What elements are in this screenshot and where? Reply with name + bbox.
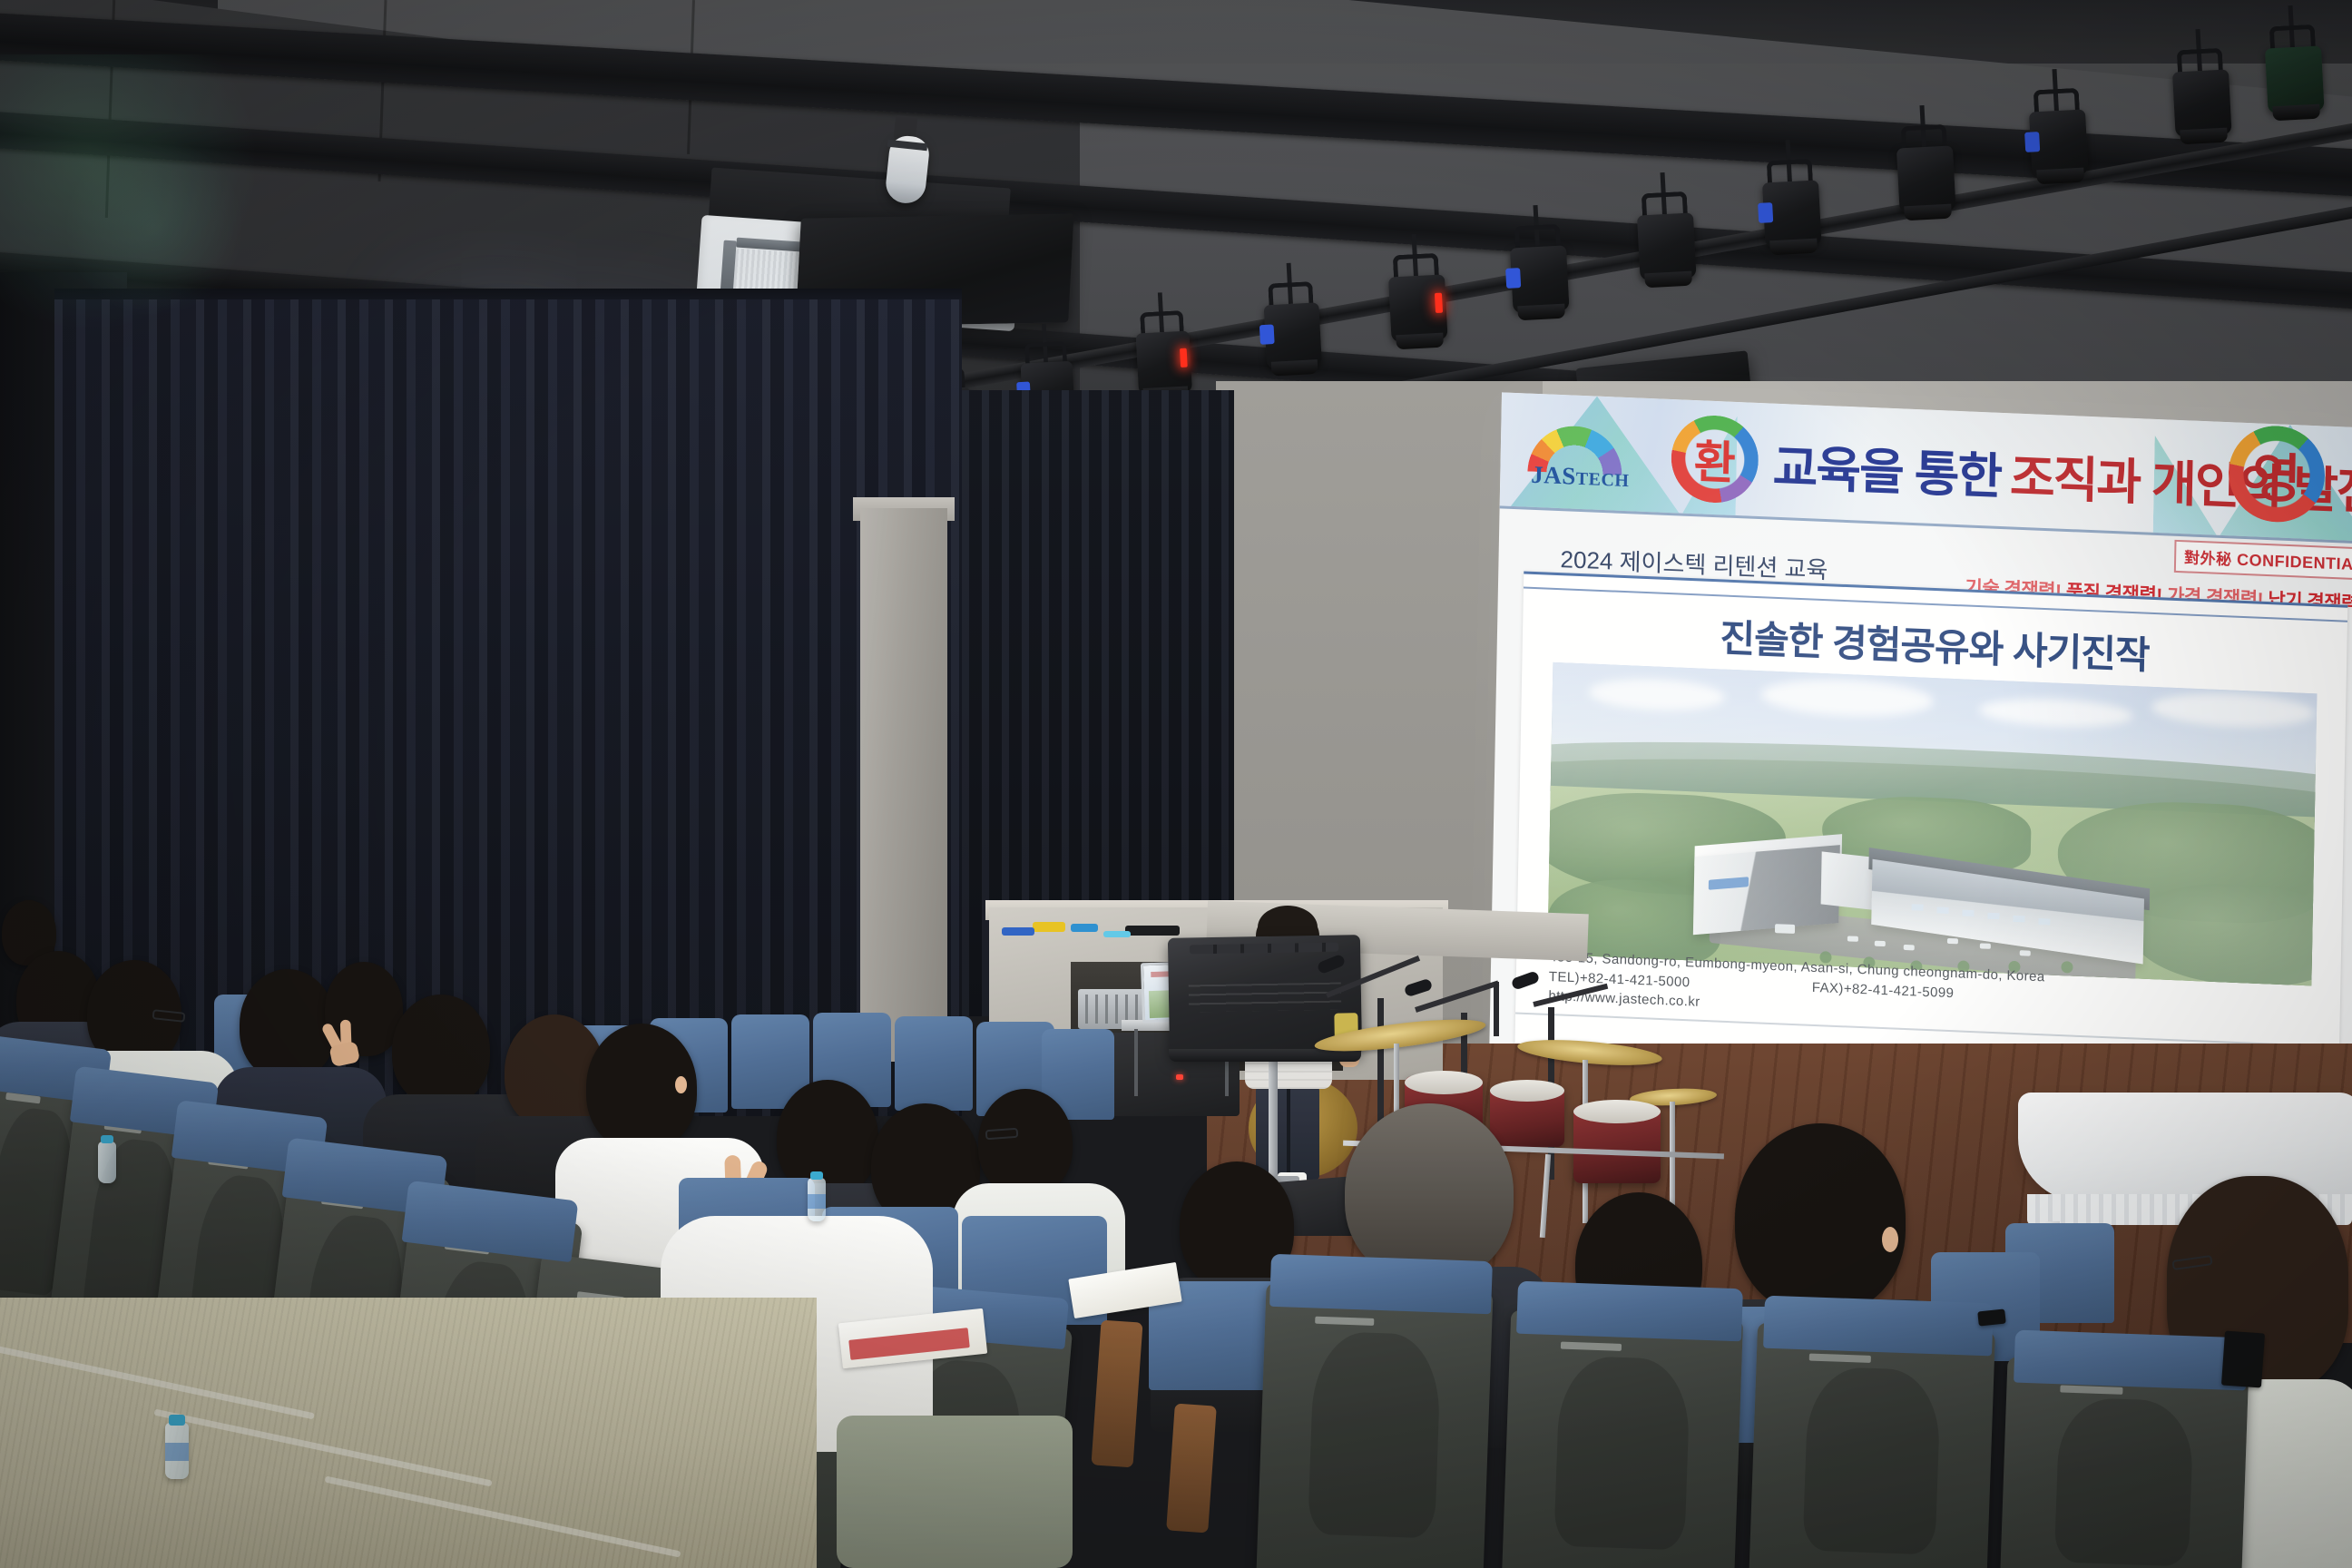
smartphone[interactable] bbox=[1977, 1308, 2006, 1326]
light-body bbox=[1896, 145, 1956, 213]
seat-headrest[interactable] bbox=[1763, 1296, 1994, 1357]
presenter-leg-split bbox=[1287, 1085, 1290, 1180]
audience-head bbox=[392, 995, 490, 1105]
stage-spotlight bbox=[1762, 176, 1823, 259]
monitor-back-ribs bbox=[1189, 983, 1341, 1013]
light-body bbox=[1637, 212, 1697, 280]
ear bbox=[675, 1076, 687, 1093]
marker-pen bbox=[1002, 927, 1034, 936]
projection-screen[interactable]: JASTECH 환 교육을 통한 조직과 개인의 발전 영 對外秘 CONFID… bbox=[1489, 392, 2352, 1099]
audience-head bbox=[1735, 1123, 1906, 1314]
seat-hinge-mark bbox=[1561, 1342, 1622, 1351]
bottle-label bbox=[808, 1194, 826, 1209]
light-lens bbox=[2180, 128, 2228, 145]
audience-lap bbox=[837, 1416, 1073, 1568]
light-clip bbox=[1758, 202, 1773, 223]
water-bottle[interactable] bbox=[808, 1178, 826, 1221]
company-logo-text: JASTECH bbox=[1531, 461, 1630, 493]
monitor-vent bbox=[1190, 943, 1338, 955]
marker-pen bbox=[1071, 924, 1098, 932]
factory-aerial-photo bbox=[1547, 662, 2317, 986]
light-lens bbox=[1904, 204, 1952, 221]
light-lens bbox=[1644, 271, 1692, 289]
footer-tel: TEL)+82-41-421-5000 bbox=[1549, 968, 1690, 989]
seat-armrest bbox=[1166, 1404, 1217, 1534]
stage-spotlight bbox=[1263, 299, 1322, 379]
light-status-led bbox=[1180, 348, 1188, 367]
logo-suffix: TECH bbox=[1576, 469, 1630, 491]
pen bbox=[1103, 931, 1131, 937]
audience-head-grey bbox=[1345, 1103, 1514, 1281]
aisle-carpet bbox=[0, 1298, 817, 1568]
auditorium-seat[interactable] bbox=[1749, 1323, 1995, 1568]
light-lens bbox=[1517, 304, 1565, 321]
bottle-cap bbox=[169, 1415, 185, 1426]
presentation-slide: 2024 제이스텍 리텐션 교육 진솔한 경험공유와 사기진작 bbox=[1514, 571, 2347, 1078]
projected-image: JASTECH 환 교육을 통한 조직과 개인의 발전 영 對外秘 CONFID… bbox=[1489, 392, 2352, 1099]
young-badge-char: 영 bbox=[2228, 424, 2326, 524]
remote-control bbox=[1125, 926, 1180, 936]
marker-pen bbox=[1033, 922, 1065, 932]
water-bottle[interactable] bbox=[98, 1142, 116, 1183]
mic-stand-pole bbox=[1494, 982, 1499, 1036]
seat-hinge-mark bbox=[2060, 1385, 2122, 1394]
projector-haze bbox=[1547, 662, 2317, 986]
confidential-korean: 對外秘 bbox=[2184, 549, 2232, 568]
stage-spotlight bbox=[2172, 65, 2233, 148]
light-body bbox=[2172, 69, 2232, 137]
audience-head bbox=[240, 969, 336, 1080]
water-bottle[interactable] bbox=[165, 1423, 189, 1479]
light-status-led bbox=[1435, 293, 1443, 313]
bottle-label bbox=[165, 1443, 189, 1461]
audience-head bbox=[978, 1089, 1073, 1196]
seat-headrest[interactable] bbox=[2014, 1330, 2248, 1391]
seat-headrest[interactable] bbox=[1516, 1281, 1743, 1342]
stage-spotlight bbox=[1388, 270, 1449, 353]
light-body bbox=[2265, 45, 2325, 113]
tom-drum-head bbox=[1405, 1071, 1483, 1094]
light-clip bbox=[2024, 132, 2040, 152]
seat-hinge-mark bbox=[1315, 1317, 1374, 1326]
stage-spotlight bbox=[2029, 105, 2090, 188]
seat-armrest bbox=[1091, 1320, 1142, 1468]
light-lens bbox=[1769, 239, 1818, 256]
slide-eyebrow: 2024 제이스텍 리텐션 교육 bbox=[1560, 541, 1828, 585]
light-lens bbox=[1271, 359, 1318, 376]
stage-curtain bbox=[54, 299, 962, 1116]
auditorium-seat[interactable] bbox=[1256, 1283, 1493, 1568]
smartphone[interactable] bbox=[2221, 1331, 2265, 1388]
hwan-badge-char: 환 bbox=[1671, 414, 1759, 505]
stage-spotlight bbox=[1510, 241, 1571, 324]
light-clip bbox=[1505, 268, 1521, 289]
floor-tom-head bbox=[1573, 1100, 1661, 1123]
bottle-cap bbox=[810, 1171, 823, 1180]
stage-spotlight bbox=[1637, 209, 1698, 291]
light-lens bbox=[1396, 333, 1444, 350]
ear bbox=[1882, 1227, 1898, 1252]
confidential-english: CONFIDENTIAL bbox=[2237, 551, 2352, 574]
banner-headline-part1: 교육을 통한 bbox=[1772, 426, 2002, 507]
bottle-cap bbox=[101, 1135, 113, 1143]
seat-hinge-mark bbox=[1808, 1353, 1870, 1362]
stage-spotlight bbox=[1896, 142, 1957, 224]
light-lens bbox=[2036, 168, 2084, 185]
piano-cover bbox=[2018, 1093, 2352, 1201]
auditorium-seat[interactable] bbox=[1502, 1310, 1743, 1568]
auditorium-scene: JASTECH 환 교육을 통한 조직과 개인의 발전 영 對外秘 CONFID… bbox=[0, 0, 2352, 1568]
lens-flare-secondary bbox=[64, 136, 245, 318]
stage-spotlight-green bbox=[2265, 42, 2326, 124]
confidential-stamp: 對外秘 CONFIDENTIAL bbox=[2174, 540, 2352, 581]
seat-headrest[interactable] bbox=[1269, 1254, 1493, 1314]
tom-drum-head bbox=[1490, 1080, 1564, 1102]
concrete-pillar bbox=[860, 508, 947, 1062]
empty-seat-back[interactable] bbox=[895, 1016, 973, 1111]
light-lens bbox=[2272, 104, 2320, 122]
light-clip bbox=[1259, 324, 1275, 344]
